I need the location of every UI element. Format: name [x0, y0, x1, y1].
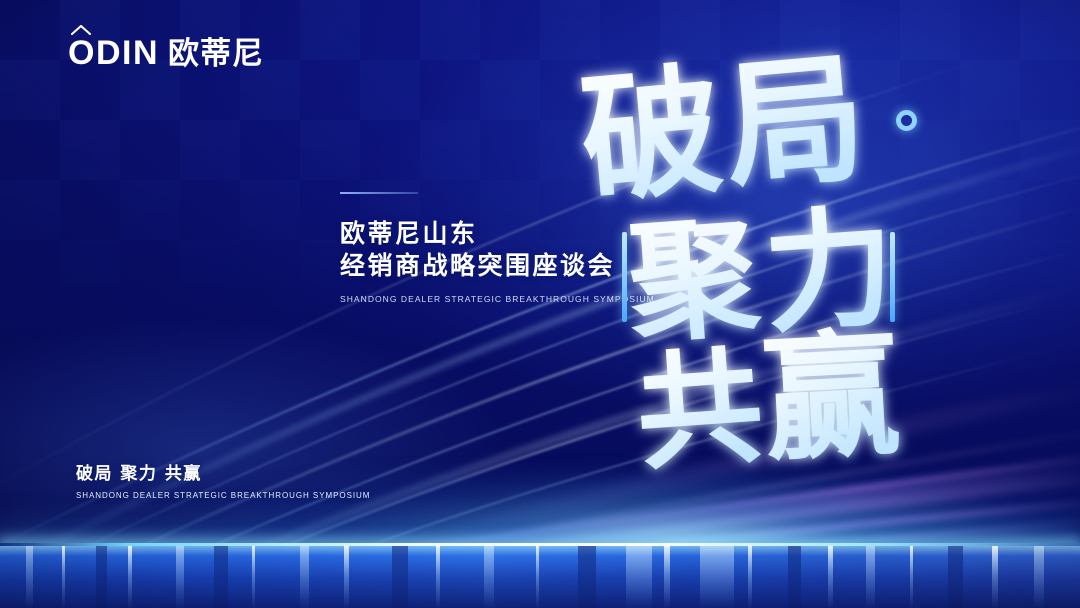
logo-wordmark-text: ODIN [68, 34, 159, 72]
footer-slogan: 破局 聚力 共赢 SHANDONG DEALER STRATEGIC BREAK… [76, 466, 370, 500]
logo-wordmark: ODIN [68, 36, 159, 70]
brand-logo[interactable]: ODIN 欧蒂尼 [68, 36, 264, 70]
footer-slogan-english: SHANDONG DEALER STRATEGIC BREAKTHROUGH S… [76, 491, 370, 500]
hero-accent-bar-right [890, 232, 895, 322]
hero-calligraphy: 破局 聚力 共 赢 [560, 40, 1030, 470]
poster-canvas: ODIN 欧蒂尼 欧蒂尼山东 经销商战略突围座谈会 SHANDONG DEALE… [0, 0, 1080, 608]
title-divider-rule [340, 192, 418, 194]
hero-accent-bar-left [622, 232, 627, 322]
macron-accent-icon [71, 25, 91, 35]
logo-chinese-name: 欧蒂尼 [168, 39, 264, 70]
footer-slogan-chinese: 破局 聚力 共赢 [76, 466, 370, 483]
hero-line3-left-text: 共 [632, 332, 768, 487]
poster-content: ODIN 欧蒂尼 欧蒂尼山东 经销商战略突围座谈会 SHANDONG DEALE… [0, 0, 1080, 608]
hero-degree-dot-icon [896, 110, 917, 131]
hero-line3-right-text: 赢 [759, 316, 903, 481]
